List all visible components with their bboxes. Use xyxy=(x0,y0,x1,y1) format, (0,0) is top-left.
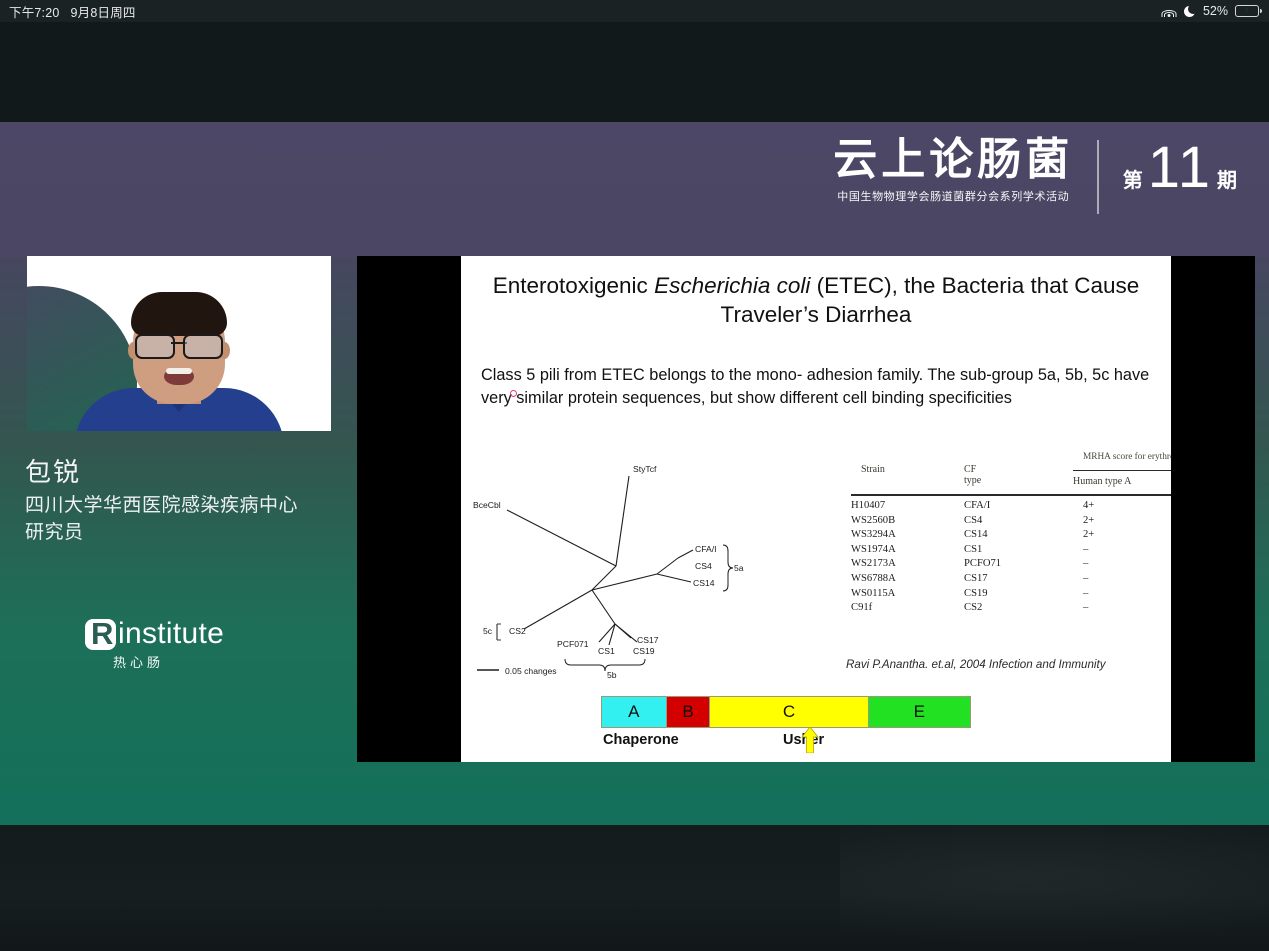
issue-number: 11 xyxy=(1148,142,1212,194)
issue-suffix: 期 xyxy=(1217,164,1237,193)
cell-strain: WS0115A xyxy=(851,588,895,599)
tree-leaf-cs4: CS4 xyxy=(695,561,712,571)
logo-letter: R xyxy=(91,618,113,649)
phylogenetic-tree-diagram: StyTcf BceCbl CFA/I CS4 CS14 CS2 PCF071 … xyxy=(461,446,851,691)
figure-citation: Ravi P.Anantha. et.al, 2004 Infection an… xyxy=(846,658,1106,671)
presenter-affiliation-line1: 四川大学华西医院感染疾病中心 xyxy=(25,492,298,519)
brand-text-block: 云上论肠菌 中国生物物理学会肠道菌群分会系列学术活动 xyxy=(833,136,1097,204)
tree-leaf-cs1: CS1 xyxy=(598,646,615,656)
wifi-icon xyxy=(1162,5,1177,17)
teeth xyxy=(166,368,192,374)
battery-percent-label: 52% xyxy=(1203,4,1228,18)
cell-mrha: 4+ xyxy=(1083,500,1094,511)
table-header-mrha: MRHA score for erythrocyte type xyxy=(1083,452,1171,462)
cell-cf: CS4 xyxy=(964,515,982,526)
status-bar-left: 下午7:20 9月8日周四 xyxy=(0,2,136,21)
slide-title-part1: Enterotoxigenic xyxy=(493,273,654,298)
clock: 下午7:20 xyxy=(9,2,60,21)
tree-leaf-cs2: CS2 xyxy=(509,626,526,636)
table-rule xyxy=(851,494,1171,496)
bottom-glow xyxy=(840,825,1269,951)
operon-segment-e: E xyxy=(869,697,970,727)
cell-strain: C91f xyxy=(851,602,872,613)
presenter-name: 包锐 xyxy=(25,452,81,489)
stream-stage: 云上论肠菌 中国生物物理学会肠道菌群分会系列学术活动 第 11 期 xyxy=(0,122,1269,825)
cell-cf: CS2 xyxy=(964,602,982,613)
presenter-affiliation-line2: 研究员 xyxy=(25,519,298,546)
event-banner: 云上论肠菌 中国生物物理学会肠道菌群分会系列学术活动 第 11 期 xyxy=(0,122,1269,258)
table-row: WS0115A CS19 – xyxy=(851,588,1171,603)
banner-subtitle: 中国生物物理学会肠道菌群分会系列学术活动 xyxy=(837,188,1069,204)
logo-wordmark: institute xyxy=(118,617,224,651)
cell-cf: CS19 xyxy=(964,588,988,599)
hair xyxy=(131,292,227,336)
tree-leaf-cfai: CFA/I xyxy=(695,544,717,554)
operon-segment-a: A xyxy=(602,697,667,727)
cursor-marker-icon xyxy=(510,390,517,397)
tree-leaf-cs19: CS19 xyxy=(633,646,655,656)
table-subrule xyxy=(1073,470,1171,471)
presenter-video-frame xyxy=(27,256,331,431)
tree-group-5c: 5c xyxy=(483,626,493,636)
tree-leaf-cs17: CS17 xyxy=(637,635,659,645)
cell-cf: CFA/I xyxy=(964,500,990,511)
organizer-logo: R institute 热心肠 xyxy=(85,617,224,671)
issue-block: 第 11 期 xyxy=(1099,136,1237,194)
cell-strain: WS2560B xyxy=(851,515,895,526)
operon-arrow-icon xyxy=(801,727,819,753)
table-header-human: Human type A xyxy=(1073,476,1131,487)
banner-title: 云上论肠菌 xyxy=(833,136,1073,184)
table-row: WS1974A CS1 – xyxy=(851,544,1171,559)
battery-charging-icon: ⚡ xyxy=(1235,5,1259,17)
bottom-letterbox xyxy=(0,825,1269,951)
cell-mrha: – xyxy=(1083,558,1088,569)
cell-mrha: – xyxy=(1083,602,1088,613)
table-row: WS3294A CS14 2+ xyxy=(851,529,1171,544)
table-body: H10407 CFA/I 4+ WS2560B CS4 2+ WS3294A C… xyxy=(851,500,1171,617)
tree-group-5b: 5b xyxy=(607,670,617,680)
status-bar: 下午7:20 9月8日周四 52% ⚡ xyxy=(0,0,1269,22)
presenter-figure xyxy=(74,282,284,431)
cell-mrha: – xyxy=(1083,588,1088,599)
logo-mark-icon: R xyxy=(85,619,116,650)
tree-leaf-cs14: CS14 xyxy=(693,578,715,588)
cell-mrha: 2+ xyxy=(1083,529,1094,540)
cell-cf: CS17 xyxy=(964,573,988,584)
slide-share-frame[interactable]: Enterotoxigenic Escherichia coli (ETEC),… xyxy=(357,256,1255,762)
operon-segment-b: B xyxy=(667,697,711,727)
slide-figure: StyTcf BceCbl CFA/I CS4 CS14 CS2 PCF071 … xyxy=(461,446,1171,691)
glasses-icon xyxy=(135,334,223,356)
table-row: H10407 CFA/I 4+ xyxy=(851,500,1171,515)
table-header-strain: Strain xyxy=(861,464,885,475)
logo-chinese: 热心肠 xyxy=(113,652,224,671)
table-row: C91f CS2 – xyxy=(851,602,1171,617)
logo-row: R institute xyxy=(85,617,224,651)
presenter-affiliation: 四川大学华西医院感染疾病中心 研究员 xyxy=(25,492,298,546)
slide-title-species: Escherichia coli xyxy=(654,273,810,298)
tree-leaf-pcf071: PCF071 xyxy=(557,639,589,649)
cell-mrha: – xyxy=(1083,573,1088,584)
table-header-cf: CF type xyxy=(964,464,981,486)
cell-strain: WS1974A xyxy=(851,544,896,555)
cell-strain: WS2173A xyxy=(851,558,896,569)
slide-title: Enterotoxigenic Escherichia coli (ETEC),… xyxy=(461,272,1171,330)
cell-strain: H10407 xyxy=(851,500,885,511)
date-label: 9月8日周四 xyxy=(71,2,136,21)
slide-content: Enterotoxigenic Escherichia coli (ETEC),… xyxy=(461,256,1171,762)
operon-segment-c: C xyxy=(710,697,868,727)
table-row: WS2173A PCFO71 – xyxy=(851,558,1171,573)
tree-scale-label: 0.05 changes xyxy=(505,666,557,676)
slide-body-text: Class 5 pili from ETEC belongs to the mo… xyxy=(481,364,1159,410)
issue-prefix: 第 xyxy=(1123,164,1143,193)
tree-group-5a: 5a xyxy=(734,563,744,573)
cell-strain: WS6788A xyxy=(851,573,896,584)
cell-strain: WS3294A xyxy=(851,529,896,540)
operon-label-chaperone: Chaperone xyxy=(603,732,679,748)
cell-cf: CS1 xyxy=(964,544,982,555)
cell-cf: CS14 xyxy=(964,529,988,540)
moon-icon xyxy=(1184,5,1196,17)
brand-lockup: 云上论肠菌 中国生物物理学会肠道菌群分会系列学术活动 第 11 期 xyxy=(833,136,1237,214)
cell-mrha: 2+ xyxy=(1083,515,1094,526)
status-bar-right: 52% ⚡ xyxy=(1162,4,1269,18)
tree-leaf-bcecbl: BceCbl xyxy=(473,500,501,510)
presenter-video-tile[interactable] xyxy=(27,256,331,431)
cell-mrha: – xyxy=(1083,544,1088,555)
table-row: WS6788A CS17 – xyxy=(851,573,1171,588)
table-row: WS2560B CS4 2+ xyxy=(851,515,1171,530)
tree-leaf-stytcf: StyTcf xyxy=(633,464,657,474)
operon-bar: A B C E xyxy=(601,696,971,728)
operon-diagram: A B C E Chaperone Usher xyxy=(461,696,1171,760)
cell-cf: PCFO71 xyxy=(964,558,1001,569)
